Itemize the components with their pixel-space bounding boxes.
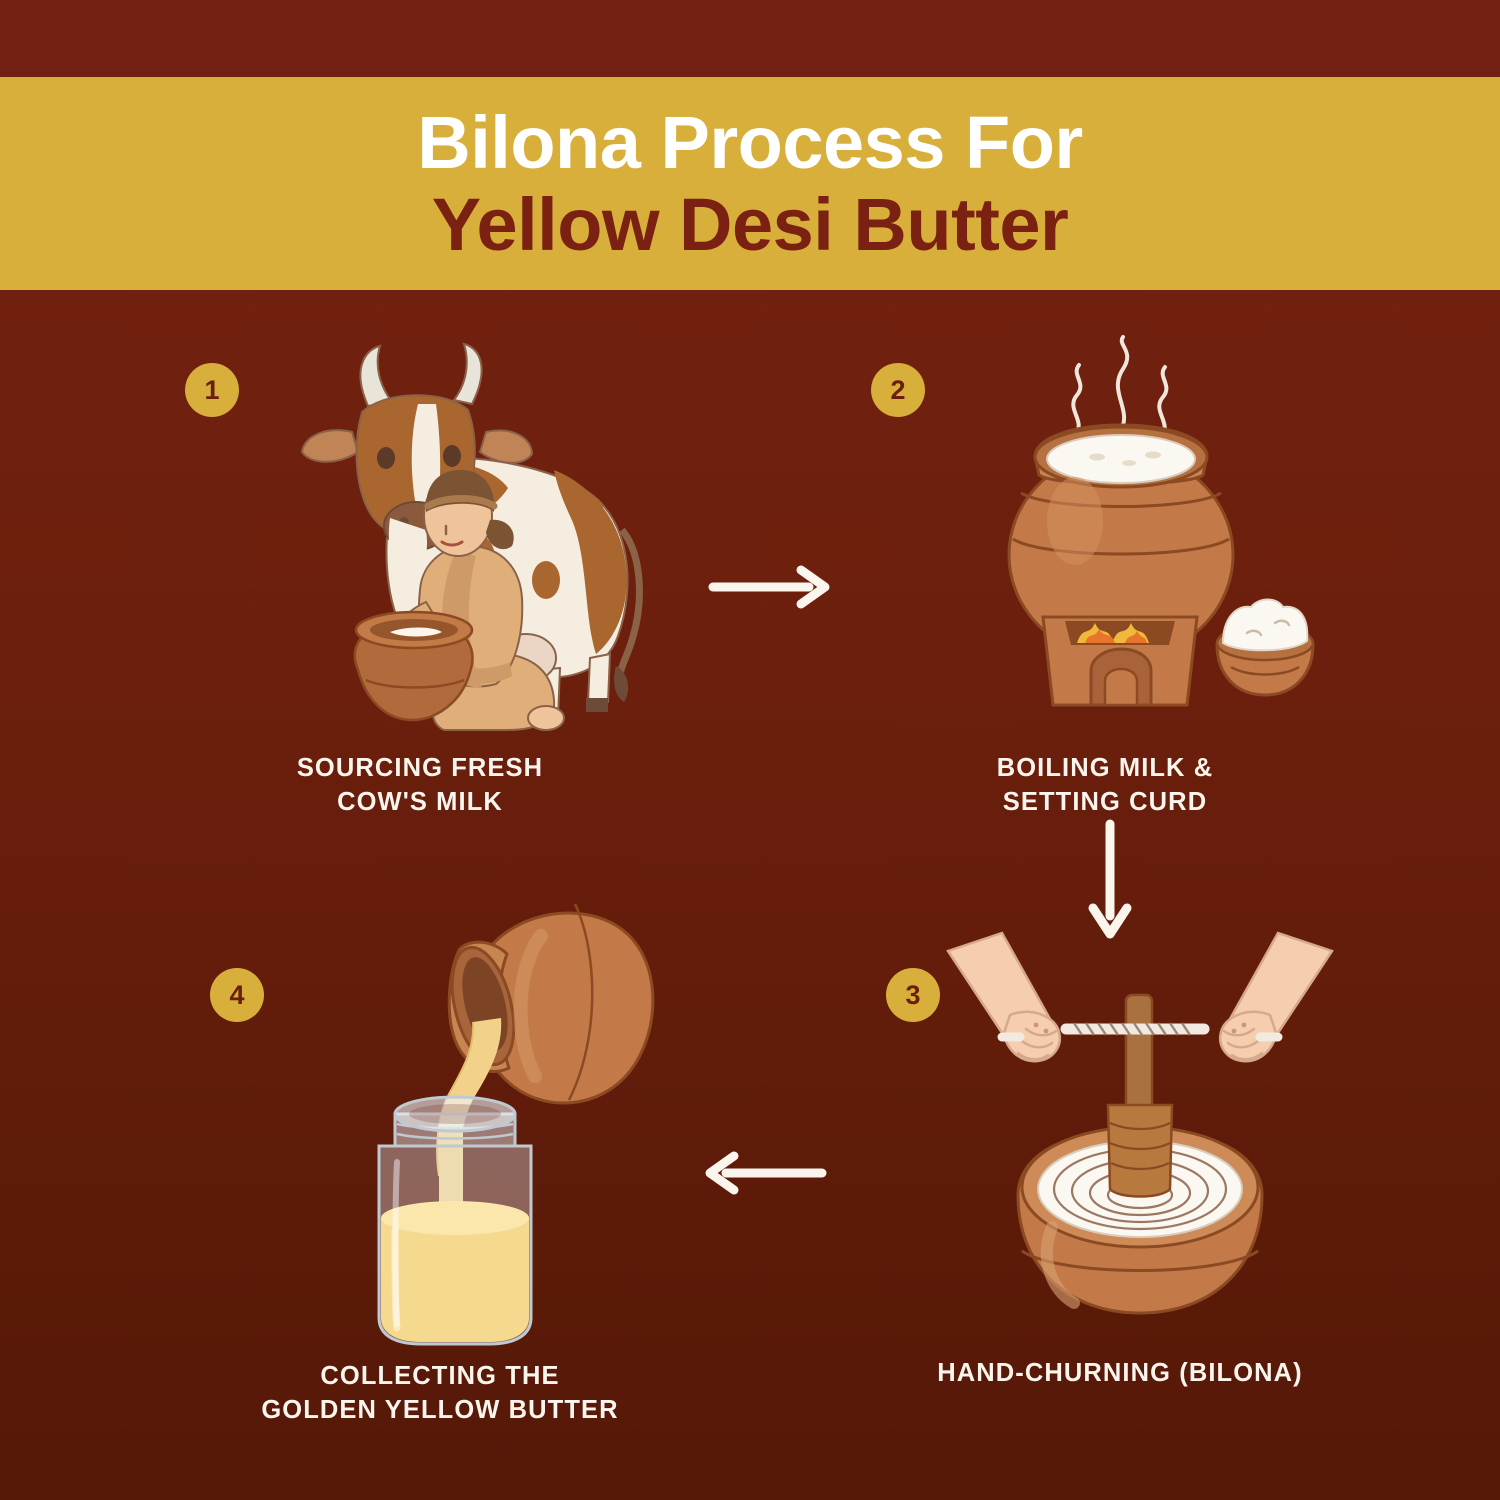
step-2-caption: BOILING MILK & SETTING CURD [855,752,1355,819]
title-banner: Bilona Process For Yellow Desi Butter [0,77,1500,290]
steam-curls [1073,337,1166,437]
page-title-line-2: Yellow Desi Butter [432,188,1069,262]
step-4-illustration [245,900,665,1360]
step-4: 4 [190,900,690,1420]
arrow-step3-to-step4 [700,1146,830,1200]
top-accent-strip [0,0,1500,77]
clay-stove [1043,617,1197,705]
arrow-step1-to-step2 [705,560,835,614]
step-1-illustration [240,340,660,740]
step-3-caption: HAND-CHURNING (BILONA) [870,1357,1370,1391]
glass-jar [375,1097,535,1344]
step-1-caption: SOURCING FRESH COW'S MILK [170,752,670,819]
arrow-step2-to-step3 [1083,818,1137,943]
step-3: 3 [870,945,1370,1405]
step-4-caption: COLLECTING THE GOLDEN YELLOW BUTTER [190,1360,690,1427]
churning-rope [1066,1023,1204,1035]
left-hand [948,933,1060,1061]
step-2: 2 [855,340,1355,810]
step-2-illustration [925,345,1325,740]
page-title-line-1: Bilona Process For [417,106,1082,180]
step-1: 1 [170,340,670,810]
step-2-badge: 2 [871,363,925,417]
step-3-illustration [940,945,1340,1345]
curd-bowl [1217,600,1313,696]
right-hand [1220,933,1332,1061]
step-3-badge: 3 [886,968,940,1022]
step-1-badge: 1 [185,363,239,417]
